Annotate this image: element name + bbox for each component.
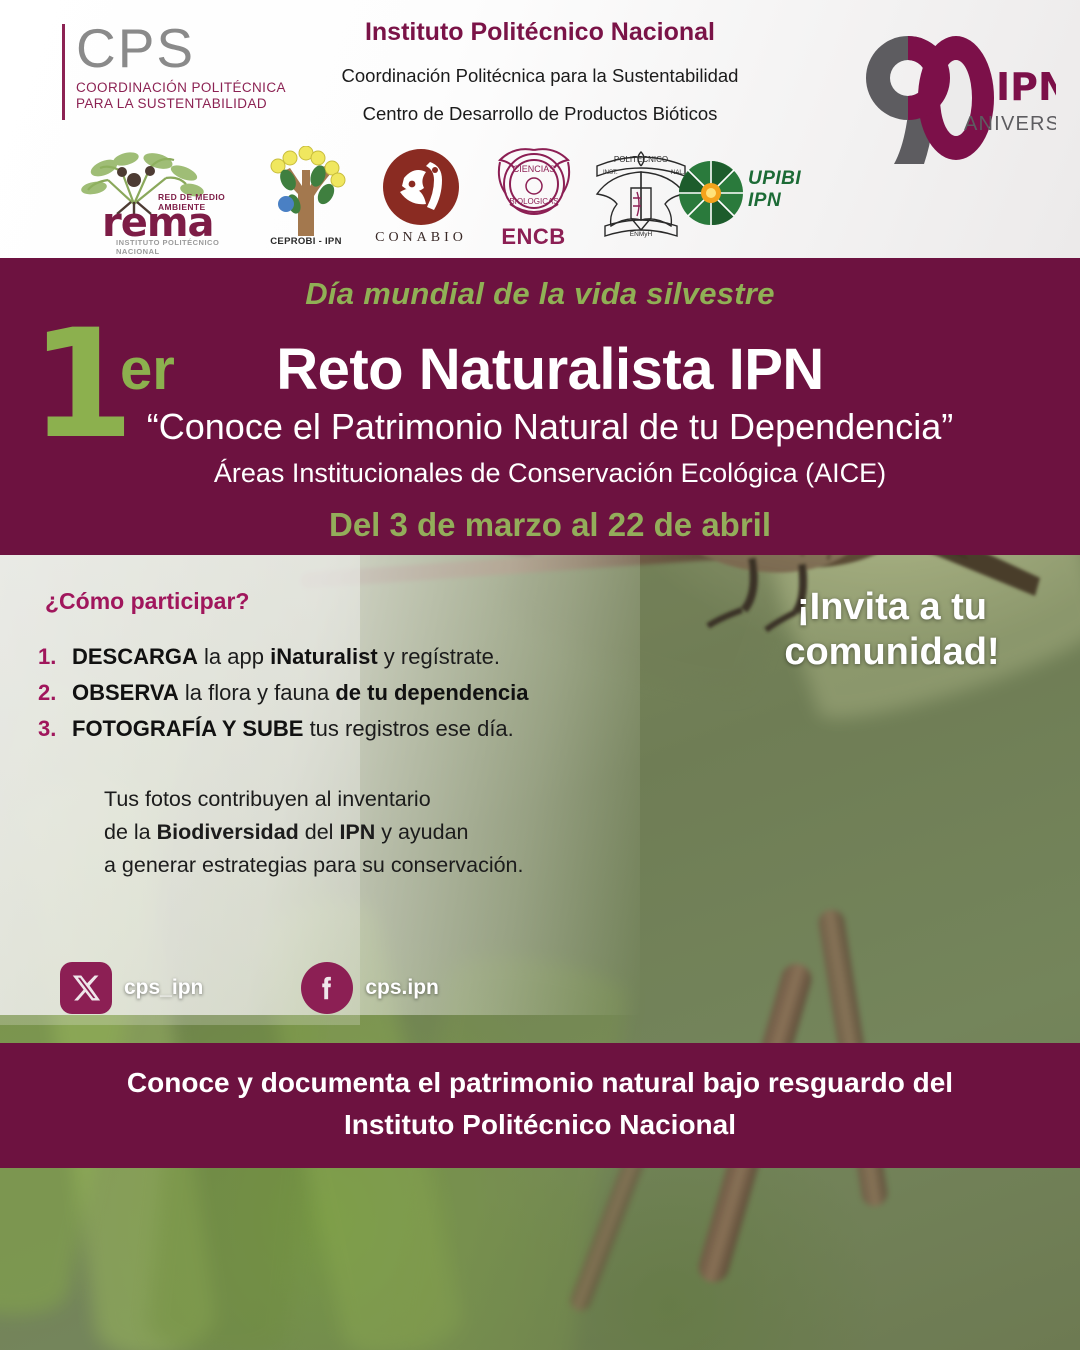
social-link-x[interactable]: cps_ipn	[60, 962, 203, 1014]
ceprobi-logo: CEPROBI - IPN	[246, 144, 366, 254]
event-quote: “Conoce el Patrimonio Natural de tu Depe…	[110, 406, 990, 448]
header-institution-name: Instituto Politécnico Nacional	[260, 18, 820, 47]
invite-line-1: ¡Invita a tu	[742, 585, 1042, 630]
title-band: Día mundial de la vida silvestre 1 er Re…	[0, 258, 1080, 555]
ordinal-suffix: er	[120, 336, 175, 403]
encb-caption: ENCB	[476, 224, 591, 250]
conabio-caption: CONABIO	[356, 230, 486, 246]
participation-step: 3.FOTOGRAFÍA Y SUBE tus registros ese dí…	[36, 714, 626, 744]
participation-step: 1.DESCARGA la app iNaturalist y regístra…	[36, 642, 626, 672]
footer-logo-bar: ESTADOS UNIDOS MEXICANOS Educación Secre…	[0, 1168, 1080, 1350]
step-text: OBSERVA la flora y fauna de tu dependenc…	[72, 678, 626, 708]
encb-logo: CIENCIAS BIOLOGICAS ENCB	[476, 144, 591, 254]
step-number: 2.	[36, 678, 72, 708]
svg-text:ANIVERSARIO: ANIVERSARIO	[964, 113, 1056, 135]
participation-steps-list: 1.DESCARGA la app iNaturalist y regístra…	[36, 642, 626, 750]
social-links: cps_ipn cps.ipn	[60, 962, 439, 1014]
social-link-facebook[interactable]: cps.ipn	[301, 962, 439, 1014]
poster: CPS COORDINACIÓN POLITÉCNICA PARA LA SUS…	[0, 0, 1080, 1350]
header-institution-block: Instituto Politécnico Nacional Coordinac…	[260, 18, 820, 125]
partner-logo-row: RED DE MEDIO AMBIENTE rema INSTITUTO POL…	[56, 144, 856, 254]
upibi-caption-line-2: IPN	[748, 190, 781, 212]
ipn-90-anniversary-logo: IPN ANIVERSARIO	[846, 26, 1056, 176]
x-twitter-icon[interactable]	[60, 962, 112, 1014]
cps-acronym: CPS	[76, 16, 195, 80]
bottom-message-line-1: Conoce y documenta el patrimonio natural…	[0, 1067, 1080, 1099]
svg-text:ENMyH: ENMyH	[630, 231, 653, 238]
conabio-logo: CONABIO	[356, 148, 486, 254]
header-coordination-name: Coordinación Politécnica para la Sustent…	[260, 65, 820, 87]
social-handle-x[interactable]: cps_ipn	[124, 976, 203, 1000]
upibi-logo: UPIBI IPN	[676, 158, 836, 240]
cps-line-2: PARA LA SUSTENTABILIDAD	[76, 96, 267, 111]
svg-text:BIOLOGICAS: BIOLOGICAS	[509, 197, 558, 206]
page-title: Reto Naturalista IPN	[200, 336, 900, 403]
svg-text:IPN: IPN	[996, 65, 1056, 109]
event-eyebrow: Día mundial de la vida silvestre	[0, 276, 1080, 312]
invite-callout: ¡Invita a tu comunidad!	[742, 585, 1042, 675]
contribution-paragraph: Tus fotos contribuyen al inventariode la…	[104, 783, 624, 882]
facebook-icon[interactable]	[301, 962, 353, 1014]
participation-step: 2.OBSERVA la flora y fauna de tu depende…	[36, 678, 626, 708]
step-number: 3.	[36, 714, 72, 744]
bottom-message-line-2: Instituto Politécnico Nacional	[0, 1109, 1080, 1141]
cps-logo: CPS COORDINACIÓN POLITÉCNICA PARA LA SUS…	[62, 22, 277, 122]
svg-text:INST.: INST.	[603, 170, 618, 176]
header-logo-bar: CPS COORDINACIÓN POLITÉCNICA PARA LA SUS…	[0, 0, 1080, 258]
rema-logo: RED DE MEDIO AMBIENTE rema INSTITUTO POL…	[74, 148, 249, 252]
event-subtitle: Áreas Institucionales de Conservación Ec…	[110, 458, 990, 489]
step-text: DESCARGA la app iNaturalist y regístrate…	[72, 642, 626, 672]
bottom-message-band: Conoce y documenta el patrimonio natural…	[0, 1043, 1080, 1168]
cps-logo-rule	[62, 24, 65, 120]
svg-text:CIENCIAS: CIENCIAS	[513, 164, 556, 174]
ceprobi-caption: CEPROBI - IPN	[254, 236, 358, 247]
invite-line-2: comunidad!	[742, 630, 1042, 675]
cps-line-1: COORDINACIÓN POLITÉCNICA	[76, 80, 286, 95]
header-center-name: Centro de Desarrollo de Productos Biótic…	[260, 103, 820, 125]
rema-bottom-text: INSTITUTO POLITÉCNICO NACIONAL	[116, 238, 249, 256]
step-number: 1.	[36, 642, 72, 672]
event-dates: Del 3 de marzo al 22 de abril	[110, 506, 990, 544]
howto-heading: ¿Cómo participar?	[45, 588, 249, 615]
upibi-caption-line-1: UPIBI	[748, 168, 801, 190]
enmyh-ribbon-center: POLITECNICO	[614, 155, 668, 164]
step-text: FOTOGRAFÍA Y SUBE tus registros ese día.	[72, 714, 626, 744]
social-handle-facebook[interactable]: cps.ipn	[365, 976, 439, 1000]
